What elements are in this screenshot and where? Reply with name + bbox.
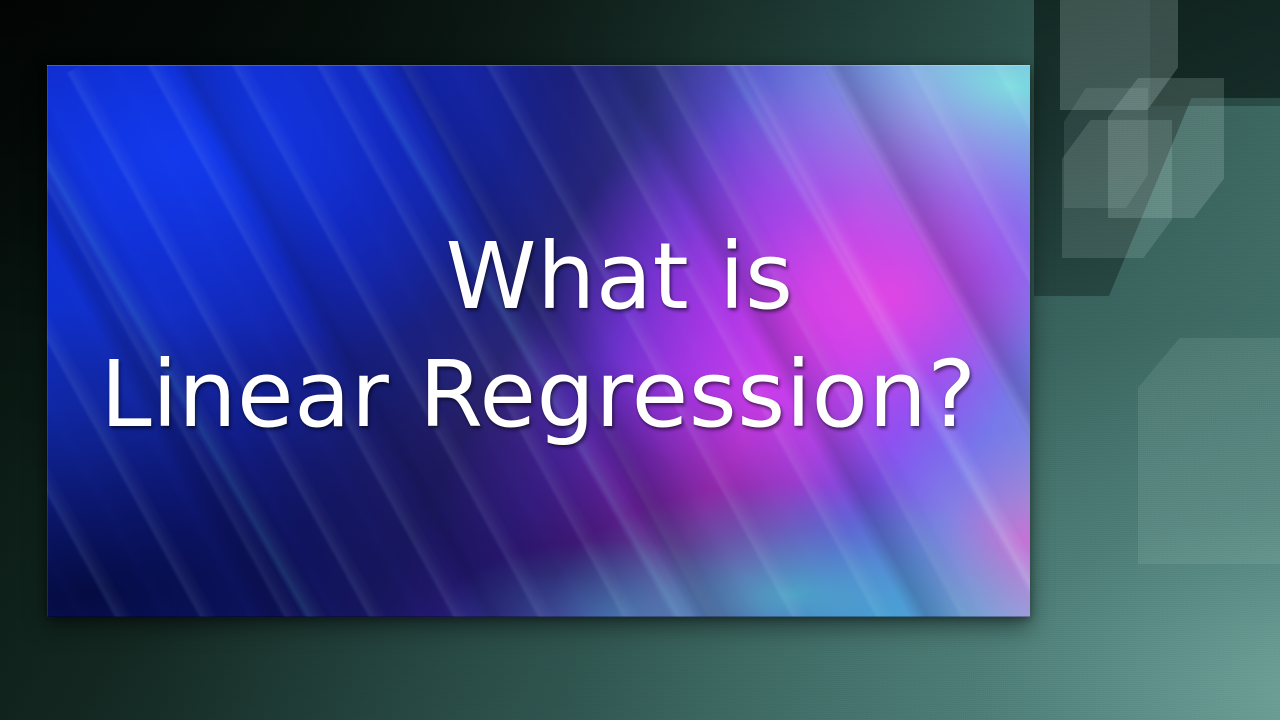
slide-title-line-2: Linear Regression?: [53, 337, 1024, 453]
slide-title-line-1: What is: [215, 219, 1024, 335]
title-card: What is Linear Regression?: [47, 65, 1030, 617]
slide-title-block: What is Linear Regression?: [47, 65, 1030, 617]
slide-canvas: What is Linear Regression?: [0, 0, 1280, 720]
